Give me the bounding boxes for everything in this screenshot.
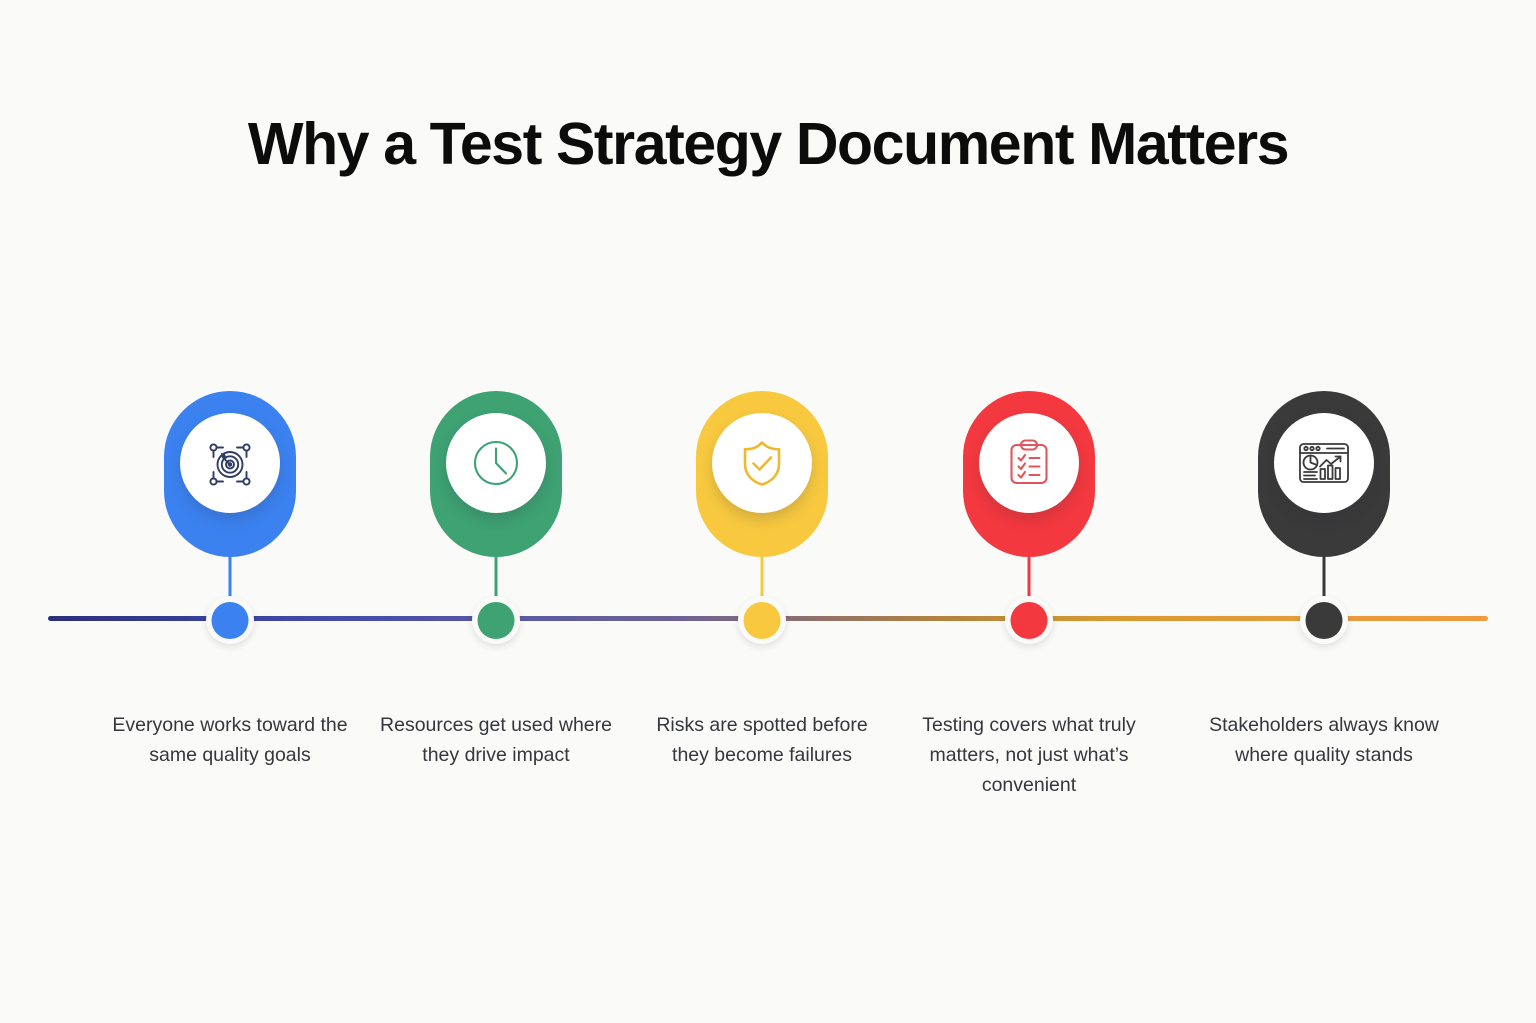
node-icon-disc-2 (446, 413, 546, 513)
target-icon (202, 435, 258, 491)
node-dot-2[interactable] (478, 602, 515, 639)
node-caption-2: Resources get used where they drive impa… (371, 710, 621, 770)
timeline-node-3[interactable]: Risks are spotted before they become fai… (612, 0, 912, 1023)
timeline-node-4[interactable]: Testing covers what truly matters, not j… (879, 0, 1179, 1023)
node-dot-5[interactable] (1306, 602, 1343, 639)
node-icon-disc-4 (979, 413, 1079, 513)
analytics-dashboard-icon (1295, 434, 1353, 492)
node-caption-3: Risks are spotted before they become fai… (637, 710, 887, 770)
node-caption-1: Everyone works toward the same quality g… (105, 710, 355, 770)
timeline-node-2[interactable]: Resources get used where they drive impa… (346, 0, 646, 1023)
node-dot-1[interactable] (212, 602, 249, 639)
shield-check-icon (734, 435, 790, 491)
timeline-node-1[interactable]: Everyone works toward the same quality g… (80, 0, 380, 1023)
infographic-canvas: Why a Test Strategy Document Matters (0, 0, 1536, 1023)
node-caption-5: Stakeholders always know where quality s… (1199, 710, 1449, 770)
timeline-node-5[interactable]: Stakeholders always know where quality s… (1174, 0, 1474, 1023)
node-icon-disc-3 (712, 413, 812, 513)
node-dot-4[interactable] (1011, 602, 1048, 639)
node-icon-disc-5 (1274, 413, 1374, 513)
clipboard-checklist-icon (1001, 435, 1057, 491)
node-icon-disc-1 (180, 413, 280, 513)
node-caption-4: Testing covers what truly matters, not j… (904, 710, 1154, 800)
clock-icon (468, 435, 524, 491)
node-dot-3[interactable] (744, 602, 781, 639)
